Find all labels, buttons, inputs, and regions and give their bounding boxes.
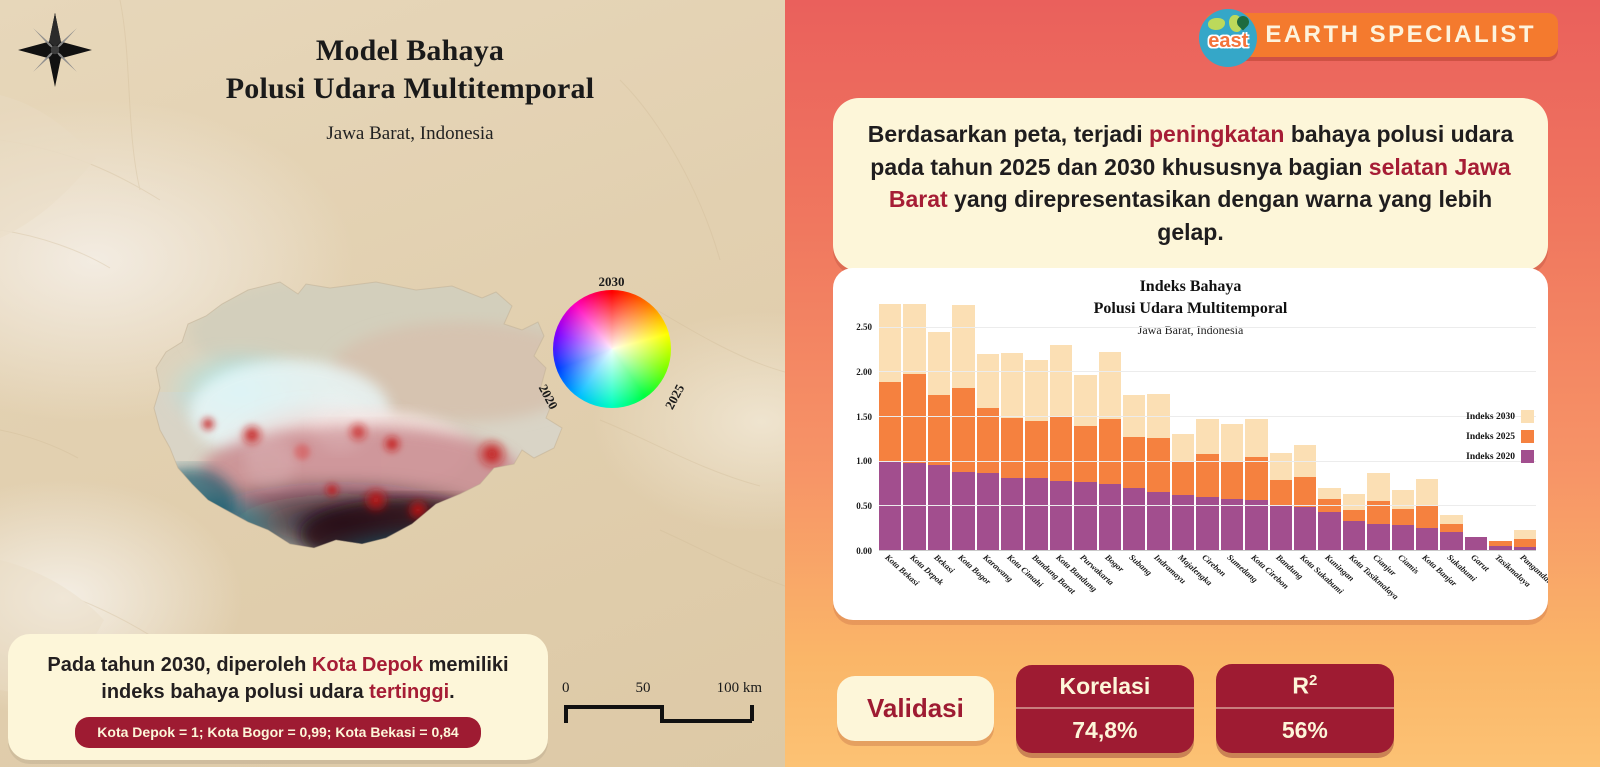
callout-text-part3: .	[449, 681, 455, 703]
note-part3: yang direpresentasikan dengan warna yang…	[948, 186, 1493, 245]
chart-bar-segment-2030	[1221, 424, 1243, 462]
chart-bar-column[interactable]	[1123, 300, 1145, 550]
chart-bar-segment-2030	[1416, 479, 1438, 506]
chart-bar-segment-2025	[1440, 524, 1462, 532]
chart-bar-column[interactable]	[1074, 300, 1096, 550]
chart-y-tick-label: 0.00	[856, 546, 872, 556]
chart-bar-segment-2025	[1489, 541, 1511, 545]
chart-x-label: Kota Cirebon	[1245, 550, 1267, 620]
chart-bar-segment-2030	[1172, 434, 1194, 462]
brand-header: east EARTH SPECIALIST	[1205, 10, 1558, 60]
chart-bar-segment-2030	[952, 305, 974, 387]
chart-bar-segment-2025	[977, 408, 999, 473]
globe-landmass-a	[1208, 18, 1225, 30]
chart-plot-area: 0.000.501.001.502.002.50	[879, 300, 1536, 550]
chart-bar-column[interactable]	[1196, 300, 1218, 550]
chart-x-label: Subang	[1123, 550, 1145, 620]
chart-bar-column[interactable]	[952, 300, 974, 550]
chart-x-label: Kuningan	[1318, 550, 1340, 620]
r2-value: 56%	[1216, 709, 1394, 753]
chart-bar-segment-2030	[1074, 375, 1096, 426]
map-callout-box: Pada tahun 2030, diperoleh Kota Depok me…	[8, 634, 548, 760]
west-java-raster-map	[130, 272, 580, 582]
chart-bar-segment-2020	[1343, 521, 1365, 550]
chart-bar-segment-2025	[1514, 539, 1536, 547]
validasi-label: Validasi	[837, 676, 994, 741]
map-callout-values-pill: Kota Depok = 1; Kota Bogor = 0,99; Kota …	[75, 717, 480, 748]
chart-legend-swatch	[1521, 410, 1534, 423]
summary-note-text: Berdasarkan peta, terjadi peningkatan ba…	[859, 118, 1522, 249]
chart-bar-segment-2020	[1001, 478, 1023, 550]
chart-bar-column[interactable]	[1270, 300, 1292, 550]
chart-bar-column[interactable]	[1416, 300, 1438, 550]
chart-bar-column[interactable]	[1025, 300, 1047, 550]
index-chart-card: Indeks Bahaya Polusi Udara Multitemporal…	[833, 268, 1548, 620]
callout-highlight-kota-depok: Kota Depok	[312, 654, 423, 676]
chart-legend: Indeks 2030Indeks 2025Indeks 2020	[1466, 410, 1534, 463]
brand-banner: east EARTH SPECIALIST	[1205, 13, 1558, 57]
chart-x-label: Majalengka	[1172, 550, 1194, 620]
chart-bar-segment-2020	[1025, 478, 1047, 550]
chart-bar-column[interactable]	[1050, 300, 1072, 550]
note-part1: Berdasarkan peta, terjadi	[868, 121, 1149, 147]
chart-x-label: Cirebon	[1196, 550, 1218, 620]
east-globe-logo-icon: east	[1199, 9, 1257, 67]
chart-bar-segment-2025	[1416, 505, 1438, 527]
rgb-color-wheel-legend: 2030 2025 2020	[539, 276, 684, 421]
chart-bar-column[interactable]	[1221, 300, 1243, 550]
chart-y-tick-label: 2.00	[856, 367, 872, 377]
chart-x-label: Kota Bandung	[1050, 550, 1072, 620]
chart-bar-segment-2025	[1221, 462, 1243, 500]
chart-bar-segment-2030	[1245, 419, 1267, 457]
chart-x-label: Bogor	[1099, 550, 1121, 620]
color-wheel-icon	[553, 290, 671, 408]
chart-bar-column[interactable]	[1318, 300, 1340, 550]
chart-x-label: Sukabumi	[1440, 550, 1462, 620]
map-subtitle: Jawa Barat, Indonesia	[110, 123, 710, 145]
chart-bar-column[interactable]	[1343, 300, 1365, 550]
chart-bar-segment-2025	[1001, 418, 1023, 478]
chart-bar-segment-2025	[1294, 477, 1316, 507]
chart-legend-label: Indeks 2025	[1466, 432, 1515, 442]
chart-legend-label: Indeks 2030	[1466, 412, 1515, 422]
chart-bar-segment-2030	[903, 304, 925, 374]
chart-x-label: Kota Depok	[903, 550, 925, 620]
map-title-line1: Model Bahaya	[110, 32, 710, 70]
chart-bar-column[interactable]	[928, 300, 950, 550]
chart-x-label: Indramayu	[1147, 550, 1169, 620]
map-title: Model Bahaya Polusi Udara Multitemporal	[110, 32, 710, 109]
chart-bar-segment-2030	[1440, 515, 1462, 524]
chart-bar-column[interactable]	[1147, 300, 1169, 550]
chart-bar-column[interactable]	[1440, 300, 1462, 550]
chart-x-label: Kota Bekasi	[879, 550, 901, 620]
chart-bar-segment-2030	[1050, 345, 1072, 417]
map-title-block: Model Bahaya Polusi Udara Multitemporal …	[110, 32, 710, 145]
scalebar-tick-0: 0	[562, 680, 570, 697]
scalebar-tick-50: 50	[636, 680, 651, 697]
chart-bar-segment-2030	[1514, 530, 1536, 539]
chart-bar-segment-2030	[1196, 419, 1218, 455]
chart-bar-segment-2020	[952, 472, 974, 550]
chart-bar-segment-2025	[1025, 421, 1047, 477]
chart-bar-segment-2030	[928, 332, 950, 395]
korelasi-value: 74,8%	[1016, 709, 1194, 753]
chart-bar-segment-2020	[928, 465, 950, 550]
chart-bar-segment-2020	[1099, 484, 1121, 550]
chart-x-label: Kota Cimahi	[1001, 550, 1023, 620]
chart-bar-segment-2030	[1318, 488, 1340, 499]
chart-legend-swatch	[1521, 430, 1534, 443]
chart-bar-segment-2020	[1050, 481, 1072, 550]
content-panel: east EARTH SPECIALIST Berdasarkan peta, …	[785, 0, 1600, 767]
chart-legend-label: Indeks 2020	[1466, 452, 1515, 462]
chart-bar-segment-2025	[1270, 480, 1292, 505]
r2-label: R2	[1216, 664, 1394, 709]
chart-x-label: Kota Bogor	[952, 550, 974, 620]
chart-bar-segment-2025	[928, 395, 950, 466]
chart-bar-segment-2025	[903, 374, 925, 462]
chart-bar-column[interactable]	[1001, 300, 1023, 550]
chart-bar-segment-2030	[1099, 352, 1121, 419]
r2-stat-card: R2 56%	[1216, 664, 1394, 753]
chart-bar-column[interactable]	[1294, 300, 1316, 550]
chart-x-label: Bandung	[1270, 550, 1292, 620]
chart-x-label-text: Pangandaran	[1518, 552, 1548, 592]
chart-bar-column[interactable]	[1099, 300, 1121, 550]
r2-superscript: 2	[1309, 672, 1317, 689]
chart-bar-column[interactable]	[903, 300, 925, 550]
chart-bar-segment-2030	[1343, 494, 1365, 510]
chart-bar-column[interactable]	[879, 300, 901, 550]
chart-bar-column[interactable]	[1245, 300, 1267, 550]
chart-gridline: 0.50	[879, 505, 1536, 506]
wheel-label-2020: 2020	[535, 382, 561, 412]
chart-x-label: Pangandaran	[1514, 550, 1536, 620]
chart-gridline: 2.00	[879, 371, 1536, 372]
chart-y-tick-label: 0.50	[856, 501, 872, 511]
chart-bar-segment-2025	[1050, 417, 1072, 481]
chart-x-label: Ciamis	[1392, 550, 1414, 620]
wheel-label-2030: 2030	[599, 274, 625, 290]
chart-bar-segment-2020	[1172, 495, 1194, 550]
chart-bar-segment-2030	[1025, 360, 1047, 422]
chart-legend-item[interactable]: Indeks 2020	[1466, 450, 1534, 463]
chart-bar-segment-2025	[1343, 510, 1365, 522]
brand-name: EARTH SPECIALIST	[1265, 21, 1536, 49]
chart-legend-swatch	[1521, 450, 1534, 463]
chart-gridline: 1.00	[879, 461, 1536, 462]
chart-x-label: Cianjur	[1367, 550, 1389, 620]
map-callout-text: Pada tahun 2030, diperoleh Kota Depok me…	[34, 652, 522, 705]
chart-bar-segment-2025	[1147, 438, 1169, 492]
chart-bars	[879, 300, 1536, 550]
chart-x-label: Purwakarta	[1074, 550, 1096, 620]
infographic-page: Model Bahaya Polusi Udara Multitemporal …	[0, 0, 1600, 767]
chart-bar-segment-2020	[1367, 524, 1389, 550]
chart-x-axis-labels: Kota BekasiKota DepokBekasiKota BogorKar…	[879, 550, 1536, 620]
chart-bar-segment-2030	[1270, 453, 1292, 481]
chart-bar-segment-2020	[1392, 525, 1414, 550]
chart-bar-segment-2020	[1465, 537, 1487, 550]
compass-rose-icon	[13, 8, 97, 92]
map-scalebar: 0 50 100 km	[562, 680, 762, 727]
chart-x-label: Kota Sukabumi	[1294, 550, 1316, 620]
chart-bar-segment-2020	[1245, 500, 1267, 550]
callout-text-part1: Pada tahun 2030, diperoleh	[47, 654, 312, 676]
chart-title-line1: Indeks Bahaya	[833, 276, 1548, 298]
chart-bar-column[interactable]	[977, 300, 999, 550]
chart-bar-segment-2030	[1367, 473, 1389, 501]
chart-x-label: Tasikmalaya	[1489, 550, 1511, 620]
chart-bar-segment-2025	[1123, 437, 1145, 489]
chart-bar-segment-2025	[952, 388, 974, 473]
chart-bar-column[interactable]	[1367, 300, 1389, 550]
chart-bar-column[interactable]	[1172, 300, 1194, 550]
chart-bar-segment-2020	[1221, 499, 1243, 550]
callout-highlight-tertinggi: tertinggi	[369, 681, 449, 703]
scalebar-tick-100: 100 km	[717, 680, 762, 697]
chart-bar-segment-2020	[1270, 505, 1292, 550]
chart-bar-segment-2025	[879, 382, 901, 461]
chart-bar-segment-2020	[977, 473, 999, 550]
chart-x-label: Kota Tasikmalaya	[1343, 550, 1365, 620]
chart-bar-segment-2020	[1440, 532, 1462, 550]
r2-label-text: R	[1292, 673, 1309, 699]
korelasi-label: Korelasi	[1016, 665, 1194, 709]
chart-bar-segment-2020	[1416, 528, 1438, 550]
chart-bar-segment-2025	[1245, 457, 1267, 500]
validation-stats: Validasi Korelasi 74,8% R2 56%	[837, 664, 1394, 753]
chart-gridline: 2.50	[879, 327, 1536, 328]
korelasi-stat-card: Korelasi 74,8%	[1016, 665, 1194, 753]
note-highlight-peningkatan: peningkatan	[1149, 121, 1284, 147]
map-panel: Model Bahaya Polusi Udara Multitemporal …	[0, 0, 785, 767]
chart-bar-segment-2025	[1392, 509, 1414, 525]
chart-x-label: Kota Banjar	[1416, 550, 1438, 620]
chart-y-tick-label: 1.00	[856, 456, 872, 466]
chart-x-label: Bandung Barat	[1025, 550, 1047, 620]
chart-bar-segment-2020	[1318, 512, 1340, 550]
chart-x-label: Garut	[1465, 550, 1487, 620]
chart-bar-segment-2025	[1172, 462, 1194, 495]
chart-x-label: Bekasi	[928, 550, 950, 620]
chart-y-tick-label: 2.50	[856, 322, 872, 332]
chart-bar-segment-2020	[1147, 492, 1169, 550]
chart-x-label: Karawang	[977, 550, 999, 620]
chart-bar-segment-2025	[1074, 426, 1096, 482]
brand-logo-text: east	[1208, 30, 1248, 53]
chart-gridline: 1.50	[879, 416, 1536, 417]
summary-note-box: Berdasarkan peta, terjadi peningkatan ba…	[833, 98, 1548, 271]
chart-bar-segment-2020	[1123, 488, 1145, 550]
chart-legend-item[interactable]: Indeks 2025	[1466, 430, 1534, 443]
chart-bar-column[interactable]	[1392, 300, 1414, 550]
chart-bar-segment-2030	[977, 354, 999, 408]
chart-bar-segment-2020	[1074, 482, 1096, 550]
chart-x-label-text: Garut	[1469, 552, 1491, 573]
chart-y-tick-label: 1.50	[856, 412, 872, 422]
chart-legend-item[interactable]: Indeks 2030	[1466, 410, 1534, 423]
scalebar-graphic	[562, 701, 762, 727]
chart-x-label: Sumedang	[1221, 550, 1243, 620]
chart-bar-segment-2030	[1001, 353, 1023, 418]
chart-bar-segment-2020	[1294, 507, 1316, 550]
chart-bar-segment-2025	[1099, 419, 1121, 484]
map-title-line2: Polusi Udara Multitemporal	[110, 70, 710, 108]
